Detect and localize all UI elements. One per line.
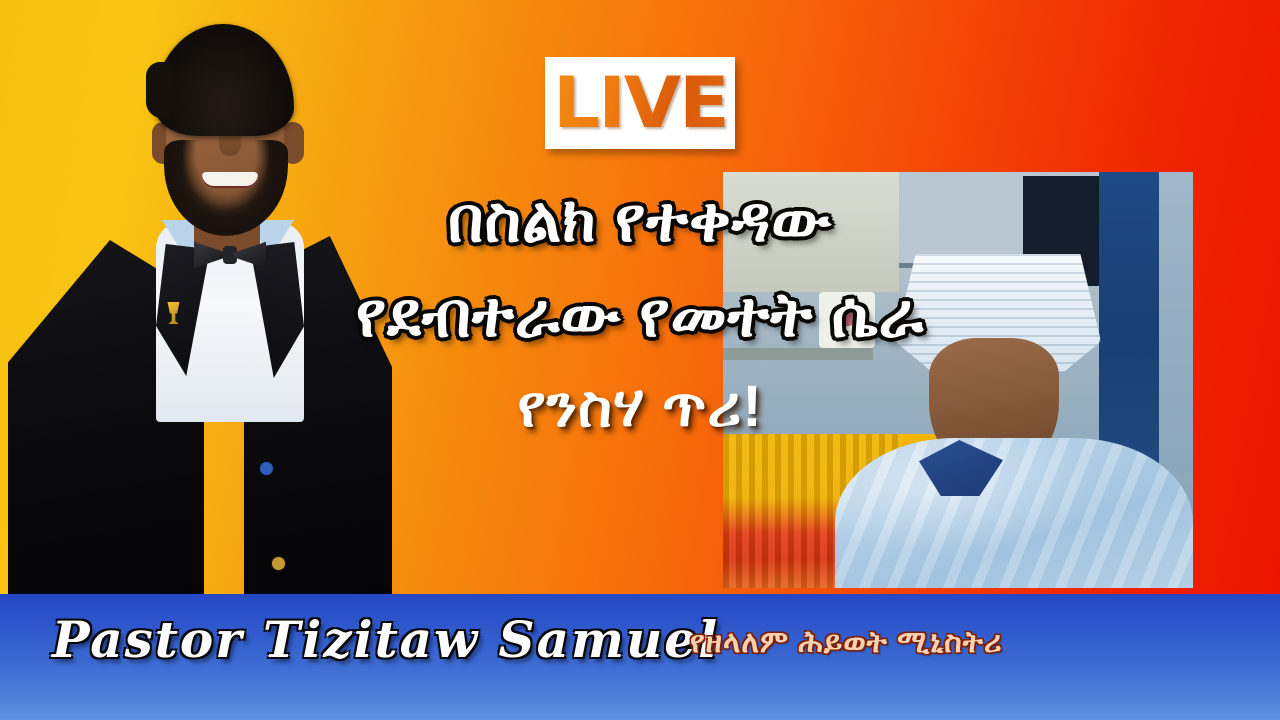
jacket-button-upper [260, 462, 273, 475]
live-badge: LIVE [545, 57, 735, 149]
headline-line-3: የንስሃ ጥሪ! [0, 376, 1280, 439]
live-label: LIVE [553, 68, 728, 138]
hair [154, 24, 294, 136]
youtube-thumbnail: LIVE በስልክ የተቀዳው የደብተራው የመተት ሴራ የንስሃ ጥሪ! … [0, 0, 1280, 720]
bottom-banner: Pastor Tizitaw Samuel የዘላለም ሕይወት ሚኒስትሪ [0, 594, 1280, 720]
inset-shawl-folds [835, 438, 1193, 588]
bottom-banner-inner: Pastor Tizitaw Samuel የዘላለም ሕይወት ሚኒስትሪ [0, 594, 1280, 720]
headline-line-2: የደብተራው የመተት ሴራ [0, 283, 1280, 350]
pastor-name-label: Pastor Tizitaw Samuel [52, 610, 719, 669]
headline-block: በስልክ የተቀዳው የደብተራው የመተት ሴራ የንስሃ ጥሪ! [0, 188, 1280, 439]
ministry-name-label: የዘላለም ሕይወት ሚኒስትሪ [690, 626, 1003, 660]
jacket-button-lower [272, 557, 285, 570]
headline-line-1: በስልክ የተቀዳው [0, 188, 1280, 255]
smiling-mouth [202, 172, 258, 188]
